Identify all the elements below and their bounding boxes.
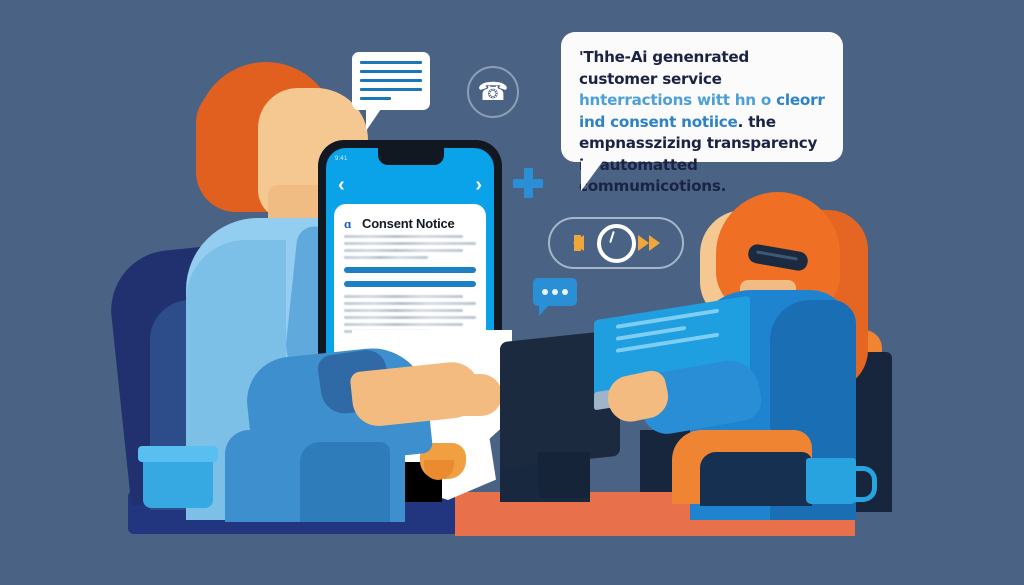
message-line <box>360 70 422 73</box>
paper-cup-lid <box>138 446 218 462</box>
phone-handset-glyph: ☎ <box>477 80 508 105</box>
call-icon[interactable]: ☎ <box>467 66 519 118</box>
left-person-fingers <box>444 374 502 416</box>
laptop-text-line <box>616 309 719 329</box>
next-button-icon[interactable] <box>649 235 660 251</box>
card-title: Consent Notice <box>362 216 455 231</box>
forward-chevron-icon[interactable]: › <box>475 175 482 195</box>
body-text-line <box>344 249 463 252</box>
play-button-icon[interactable] <box>597 224 636 263</box>
speech-bubble-text: 'Thhe-Ai genenrated customer service hnt… <box>579 47 827 198</box>
left-person-shirt-fold <box>300 442 390 522</box>
plus-icon[interactable] <box>513 168 543 198</box>
phone-nav-row: ‹ › <box>326 170 494 200</box>
typing-dot <box>552 289 558 295</box>
body-text-line <box>344 302 476 305</box>
media-controls-bar[interactable] <box>548 217 684 269</box>
speech-line-3b: . the <box>738 113 776 131</box>
right-person-lap-shade <box>700 452 812 506</box>
speech-bubble: 'Thhe-Ai genenrated customer service hnt… <box>561 32 843 162</box>
body-text-line <box>344 295 463 298</box>
illustration-canvas: 9:41 ‹ › ɑ Consent Notice <box>0 0 1024 585</box>
coffee-mug <box>806 458 856 504</box>
body-text-line <box>344 316 476 319</box>
highlight-bar <box>344 281 476 287</box>
body-text-line <box>344 235 463 238</box>
message-line <box>360 88 422 91</box>
phone-notch <box>378 148 444 165</box>
typing-indicator-bubble <box>533 278 577 306</box>
brand-logo-icon: ɑ <box>344 217 357 231</box>
body-text-line <box>344 309 463 312</box>
message-line <box>360 79 422 82</box>
speech-line-2b: hnterractions witt hn o <box>579 91 771 109</box>
typing-dot <box>562 289 568 295</box>
body-text-line <box>344 242 476 245</box>
back-arrow-icon[interactable]: ‹ <box>338 175 345 195</box>
speech-line-5: automatted commumicotions. <box>579 156 726 196</box>
monitor-stand <box>538 452 590 498</box>
status-time: 9:41 <box>335 156 347 162</box>
typing-dot <box>542 289 548 295</box>
message-line <box>360 61 422 64</box>
body-text-line <box>344 323 463 326</box>
message-lines-icon[interactable] <box>352 52 430 110</box>
highlight-bar <box>344 267 476 273</box>
speech-line-2a: service <box>662 70 722 88</box>
body-text-line <box>344 256 428 259</box>
card-header: ɑ Consent Notice <box>334 204 486 231</box>
coffee-mug-handle <box>850 466 877 502</box>
message-line <box>360 97 391 100</box>
previous-button-icon[interactable] <box>573 235 584 251</box>
